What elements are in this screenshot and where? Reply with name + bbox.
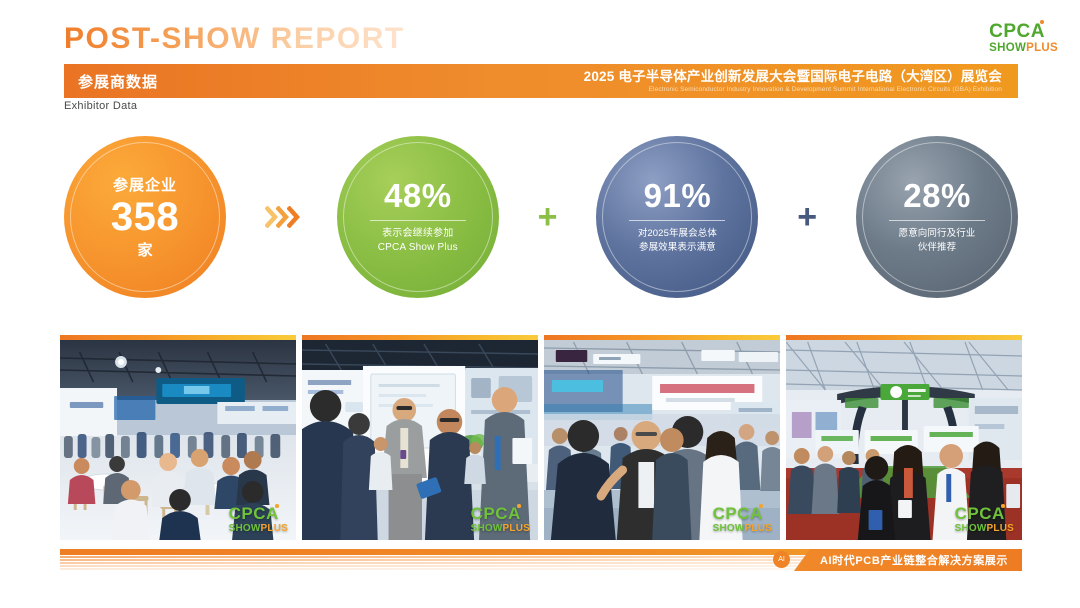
logo-show-label: SHOW (989, 42, 1026, 54)
watermark-main-text: CPCA (713, 504, 763, 523)
watermark-plus-label: PLUS (745, 523, 772, 534)
logo-plus-label: PLUS (1026, 42, 1058, 54)
stat-circle-satisfaction: 91% 对2025年展会总体 参展效果表示满意 (596, 136, 758, 298)
event-title-en: Electronic Semiconductor Industry Innova… (584, 86, 1002, 93)
stat-value: 28% (903, 179, 971, 214)
stat-label-top: 参展企业 (113, 174, 177, 195)
photo-image-lounge-area: CPCA SHOWPLUS (60, 340, 296, 540)
watermark-cpca-label: CPCA (955, 505, 1005, 522)
watermark-main-text: CPCA (955, 504, 1005, 523)
photo-card-booth-conversation[interactable]: CPCA SHOWPLUS (302, 335, 538, 540)
connector-plus-2: + (758, 136, 856, 298)
watermark-plus-label: PLUS (987, 523, 1014, 534)
stat-desc-line-1: 对2025年展会总体 (638, 227, 717, 241)
page-title: POST-SHOW REPORT (64, 22, 405, 56)
stat-divider (889, 220, 985, 221)
photo-image-green-pavilion: CPCA SHOWPLUS (786, 340, 1022, 540)
stat-value: 48% (384, 179, 452, 214)
watermark-plus-label: PLUS (261, 523, 288, 534)
watermark-subtext: SHOWPLUS (713, 524, 772, 534)
watermark-cpca-label: CPCA (713, 505, 763, 522)
watermark-show-label: SHOW (955, 523, 987, 534)
stat-desc-line-1: 表示会继续参加 (382, 227, 453, 241)
stat-value: 358 (111, 197, 179, 238)
section-title-cn: 参展商数据 (78, 71, 158, 92)
stat-unit: 家 (137, 239, 152, 260)
footer-tagline: AI时代PCB产业链整合解决方案展示 (794, 549, 1022, 571)
stat-circle-would-recommend: 28% 愿意向同行及行业 伙伴推荐 (856, 136, 1018, 298)
stat-desc-line-2: 参展效果表示满意 (639, 241, 716, 255)
connector-chevrons (226, 136, 337, 298)
watermark-accent-dot-icon (275, 504, 279, 508)
event-title-cn: 2025 电子半导体产业创新发展大会暨国际电子电路（大湾区）展览会 (584, 69, 1002, 85)
photo-card-lounge-area[interactable]: CPCA SHOWPLUS (60, 335, 296, 540)
watermark-show-label: SHOW (471, 523, 503, 534)
photo-card-green-pavilion[interactable]: CPCA SHOWPLUS (786, 335, 1022, 540)
watermark-show-label: SHOW (229, 523, 261, 534)
event-title-block: 2025 电子半导体产业创新发展大会暨国际电子电路（大湾区）展览会 Electr… (584, 69, 1006, 93)
watermark-show-label: SHOW (713, 523, 745, 534)
watermark-subtext: SHOWPLUS (229, 524, 288, 534)
watermark-plus-label: PLUS (503, 523, 530, 534)
logo-cpca-label: CPCA (989, 21, 1045, 42)
photo-card-crowded-aisle[interactable]: CPCA SHOWPLUS (544, 335, 780, 540)
watermark-subtext: SHOWPLUS (955, 524, 1014, 534)
watermark-accent-dot-icon (517, 504, 521, 508)
section-subtitle-en: Exhibitor Data (64, 100, 137, 112)
watermark-accent-dot-icon (1001, 504, 1005, 508)
watermark-cpca-label: CPCA (471, 505, 521, 522)
stat-value: 91% (644, 179, 712, 214)
photo-watermark: CPCA SHOWPLUS (955, 505, 1014, 534)
logo-main-text: CPCA (989, 22, 1045, 41)
stat-divider (370, 220, 466, 221)
stat-circle-exhibiting-companies: 参展企业 358 家 (64, 136, 226, 298)
cpca-showplus-logo: CPCA SHOWPLUS (989, 22, 1058, 55)
photo-gallery: CPCA SHOWPLUS (60, 335, 1022, 540)
stats-row: 参展企业 358 家 48% 表示会继续参加 CPCA Show Plus + … (64, 136, 1018, 298)
watermark-main-text: CPCA (471, 504, 521, 523)
watermark-cpca-label: CPCA (229, 505, 279, 522)
section-header-bar: 参展商数据 2025 电子半导体产业创新发展大会暨国际电子电路（大湾区）展览会 … (64, 64, 1018, 98)
logo-subtext: SHOWPLUS (989, 43, 1058, 55)
photo-image-crowded-aisle: CPCA SHOWPLUS (544, 340, 780, 540)
plus-icon-1: + (538, 200, 558, 234)
photo-watermark: CPCA SHOWPLUS (471, 505, 530, 534)
stat-circle-will-return: 48% 表示会继续参加 CPCA Show Plus (337, 136, 499, 298)
footer-ai-badge: AI (773, 551, 790, 568)
watermark-main-text: CPCA (229, 504, 279, 523)
watermark-accent-dot-icon (759, 504, 763, 508)
chevron-right-icon-3 (287, 206, 300, 228)
connector-plus-1: + (499, 136, 597, 298)
photo-image-booth-conversation: CPCA SHOWPLUS (302, 340, 538, 540)
stat-desc-line-2: CPCA Show Plus (378, 241, 458, 255)
photo-watermark: CPCA SHOWPLUS (229, 505, 288, 534)
watermark-subtext: SHOWPLUS (471, 524, 530, 534)
logo-accent-dot-icon (1040, 20, 1044, 24)
plus-icon-2: + (797, 200, 817, 234)
stat-desc-line-2: 伙伴推荐 (918, 241, 956, 255)
photo-watermark: CPCA SHOWPLUS (713, 505, 772, 534)
stat-divider (629, 220, 725, 221)
stat-desc-line-1: 愿意向同行及行业 (899, 227, 976, 241)
chevrons-right-icon (265, 206, 298, 228)
footer-bar: AI AI时代PCB产业链整合解决方案展示 (60, 549, 1022, 575)
